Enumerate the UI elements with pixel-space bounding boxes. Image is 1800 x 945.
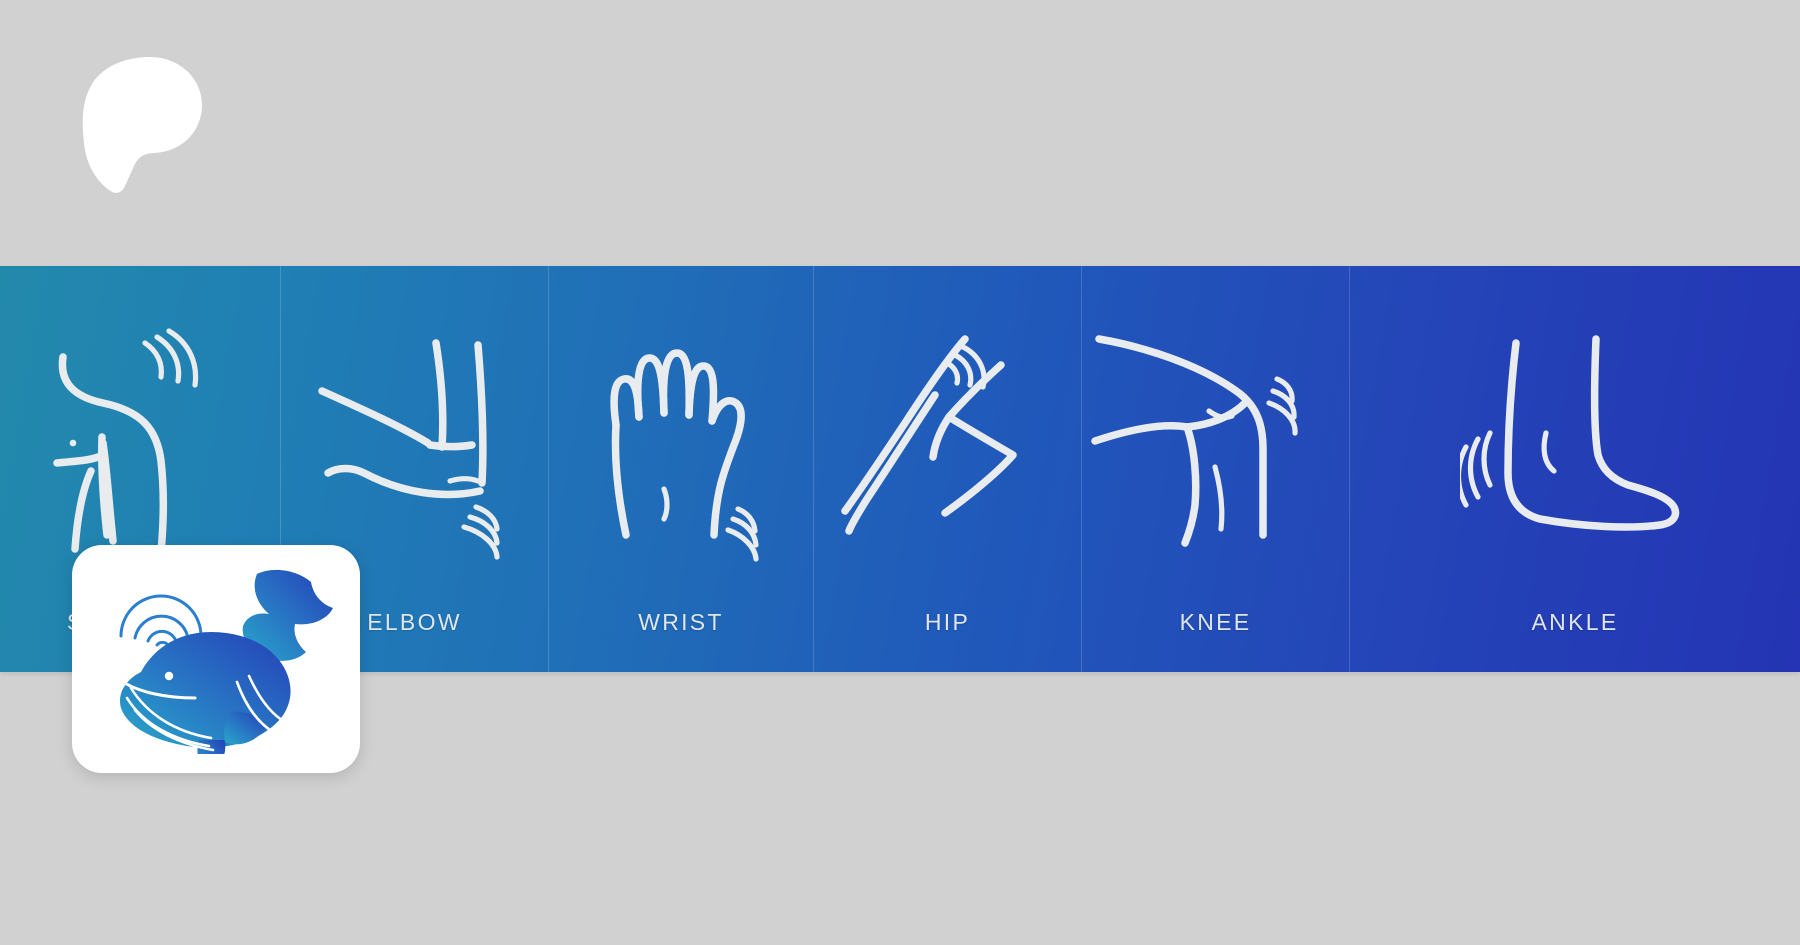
- bodypart-card-knee[interactable]: KNEE: [1082, 266, 1350, 672]
- bodypart-card-wrist[interactable]: WRIST: [549, 266, 814, 672]
- bodypart-label: ELBOW: [367, 611, 462, 644]
- hip-icon: [814, 266, 1081, 611]
- bodypart-label: ANKLE: [1532, 611, 1619, 644]
- screen-root: SHOULDER ELBOW: [0, 0, 1800, 945]
- knee-icon: [1082, 266, 1349, 611]
- patreon-logo-icon[interactable]: [78, 55, 206, 195]
- whale-app-icon[interactable]: [72, 545, 360, 773]
- bodypart-card-hip[interactable]: HIP: [814, 266, 1082, 672]
- bodypart-label: HIP: [925, 611, 970, 644]
- bodypart-label: WRIST: [638, 611, 724, 644]
- ankle-icon: [1350, 266, 1800, 611]
- wrist-icon: [549, 266, 813, 611]
- bodypart-card-ankle[interactable]: ANKLE: [1350, 266, 1800, 672]
- bodypart-label: KNEE: [1180, 611, 1252, 644]
